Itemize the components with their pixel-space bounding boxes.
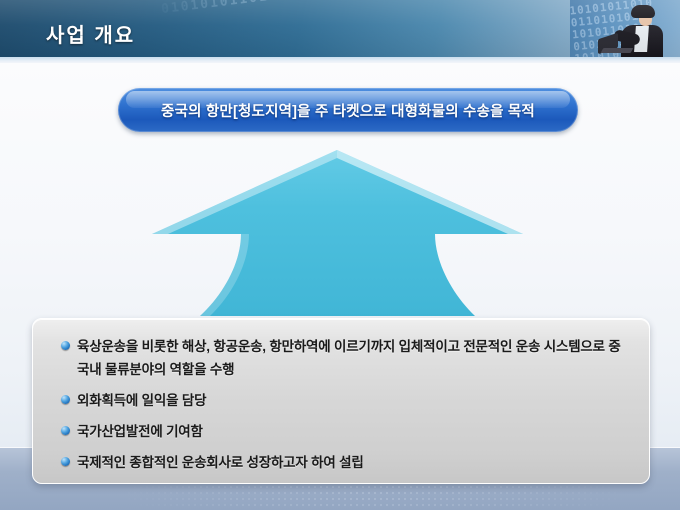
- headline-banner: 중국의 항만[청도지역]을 주 타켓으로 대형화물의 수송을 목적: [118, 88, 578, 132]
- list-item: 국가산업발전에 기여함: [61, 420, 629, 443]
- up-arrow-icon: [140, 142, 540, 324]
- banner-text: 중국의 항만[청도지역]을 주 타켓으로 대형화물의 수송을 목적: [118, 88, 578, 132]
- blue-sphere-bullet-icon: [61, 457, 70, 466]
- list-item: 외화획득에 일익을 담당: [61, 389, 629, 412]
- blue-sphere-bullet-icon: [61, 426, 70, 435]
- list-item-text: 국가산업발전에 기여함: [77, 420, 203, 443]
- blue-sphere-bullet-icon: [61, 395, 70, 404]
- bullet-list: 육상운송을 비롯한 해상, 항공운송, 항만하역에 이르기까지 입체적이고 전문…: [61, 335, 629, 482]
- content-panel: 육상운송을 비롯한 해상, 항공운송, 항만하역에 이르기까지 입체적이고 전문…: [32, 318, 650, 484]
- list-item-text: 국제적인 종합적인 운송회사로 성장하고자 하여 설립: [77, 451, 364, 474]
- header-underline: [0, 57, 680, 63]
- list-item-text: 육상운송을 비롯한 해상, 항공운송, 항만하역에 이르기까지 입체적이고 전문…: [77, 335, 629, 381]
- list-item: 육상운송을 비롯한 해상, 항공운송, 항만하역에 이르기까지 입체적이고 전문…: [61, 335, 629, 381]
- presentation-slide: 01010101101010110101 101010101011010101 …: [0, 0, 680, 510]
- blue-sphere-bullet-icon: [61, 341, 70, 350]
- list-item: 국제적인 종합적인 운송회사로 성장하고자 하여 설립: [61, 451, 629, 474]
- page-title: 사업 개요: [46, 19, 135, 48]
- list-item-text: 외화획득에 일익을 담당: [77, 389, 206, 412]
